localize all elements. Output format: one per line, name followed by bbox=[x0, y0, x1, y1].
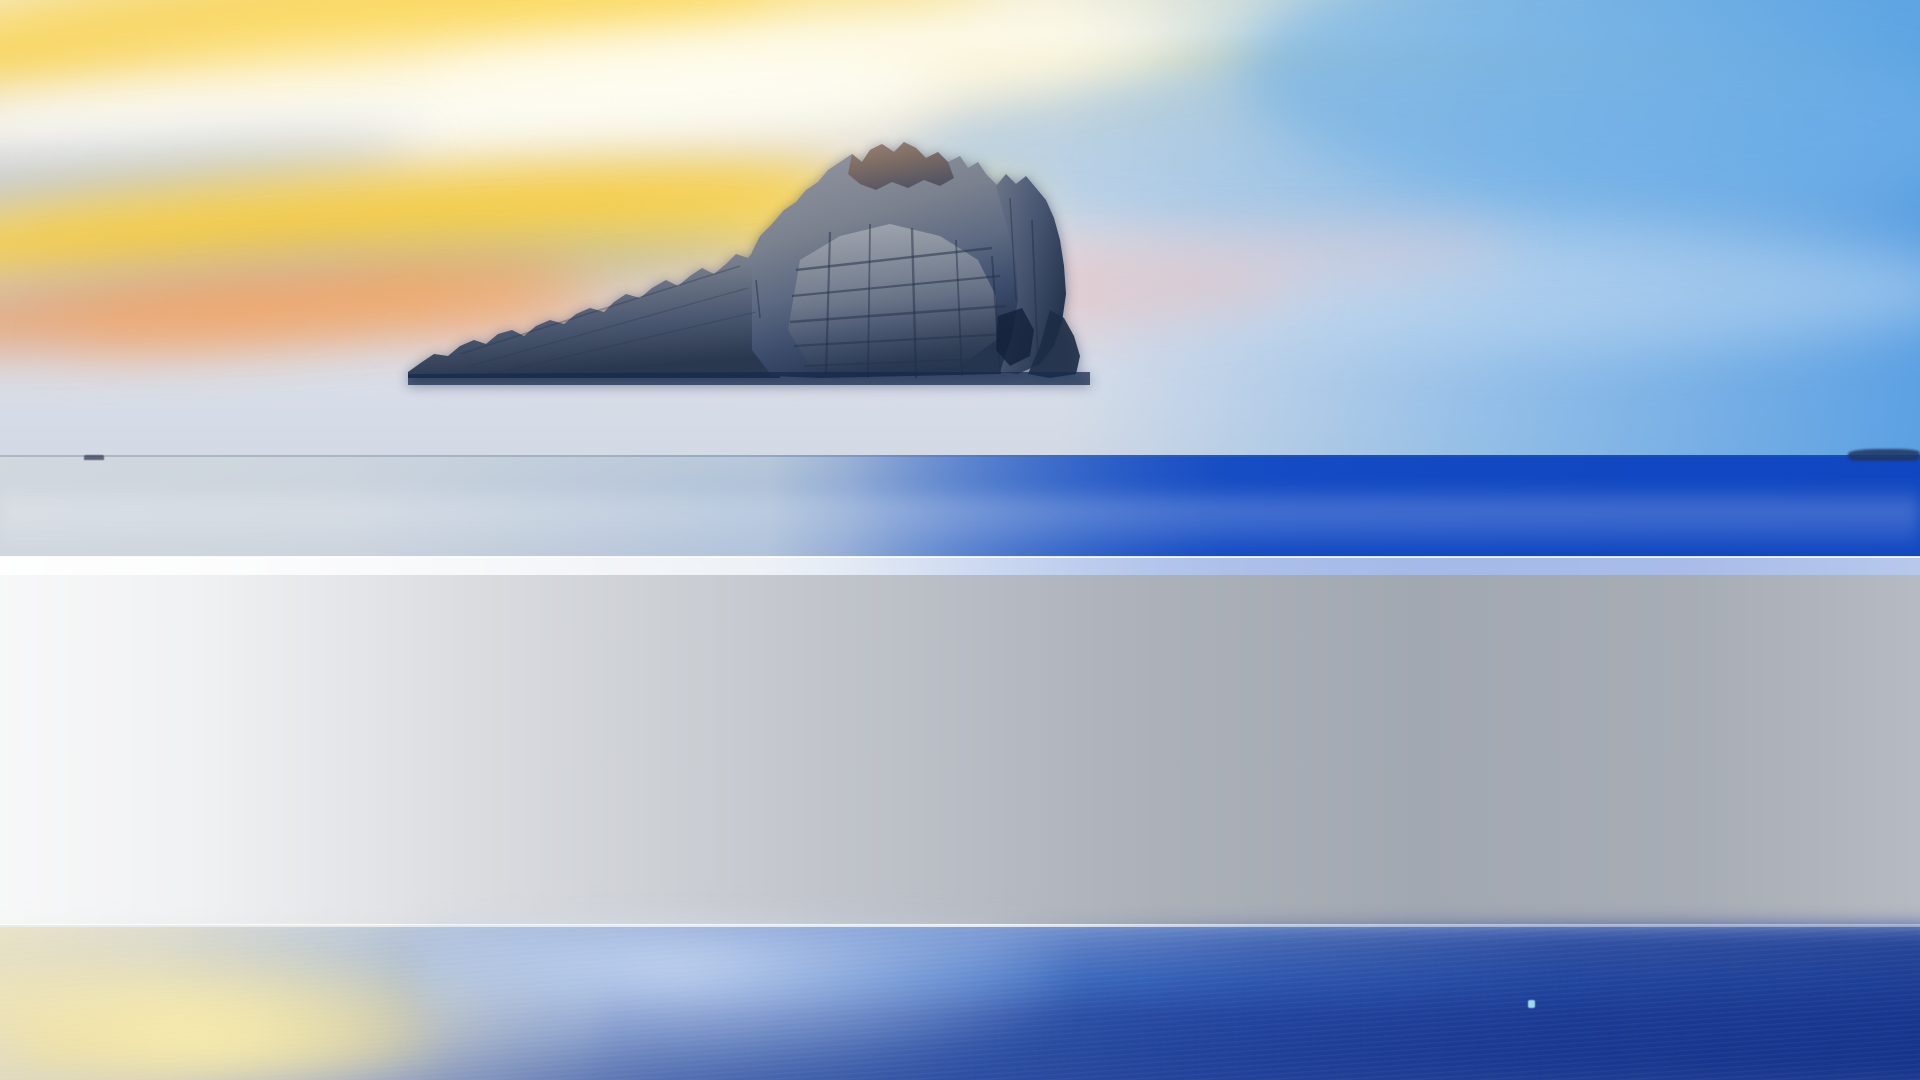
rock-island-shape bbox=[400, 140, 1120, 385]
rock-island bbox=[400, 140, 1120, 385]
water-ripple-texture bbox=[0, 927, 1920, 1080]
distant-boat bbox=[84, 455, 104, 460]
horizon-line bbox=[0, 455, 1920, 457]
far-right-rock bbox=[1848, 449, 1920, 461]
rock-waterline-shadow bbox=[408, 372, 1090, 385]
verse-image-card: 2 Samuel 19:1 WEB It was told Joab, Beho… bbox=[0, 0, 1920, 1080]
rock-left-ridge bbox=[408, 238, 780, 378]
water-bright-speck bbox=[1528, 1000, 1535, 1008]
text-overlay-band: 2 Samuel 19:1 WEB It was told Joab, Beho… bbox=[0, 557, 1920, 925]
rock-warm-crown bbox=[848, 142, 954, 190]
sea-silky-highlight bbox=[0, 485, 1920, 545]
